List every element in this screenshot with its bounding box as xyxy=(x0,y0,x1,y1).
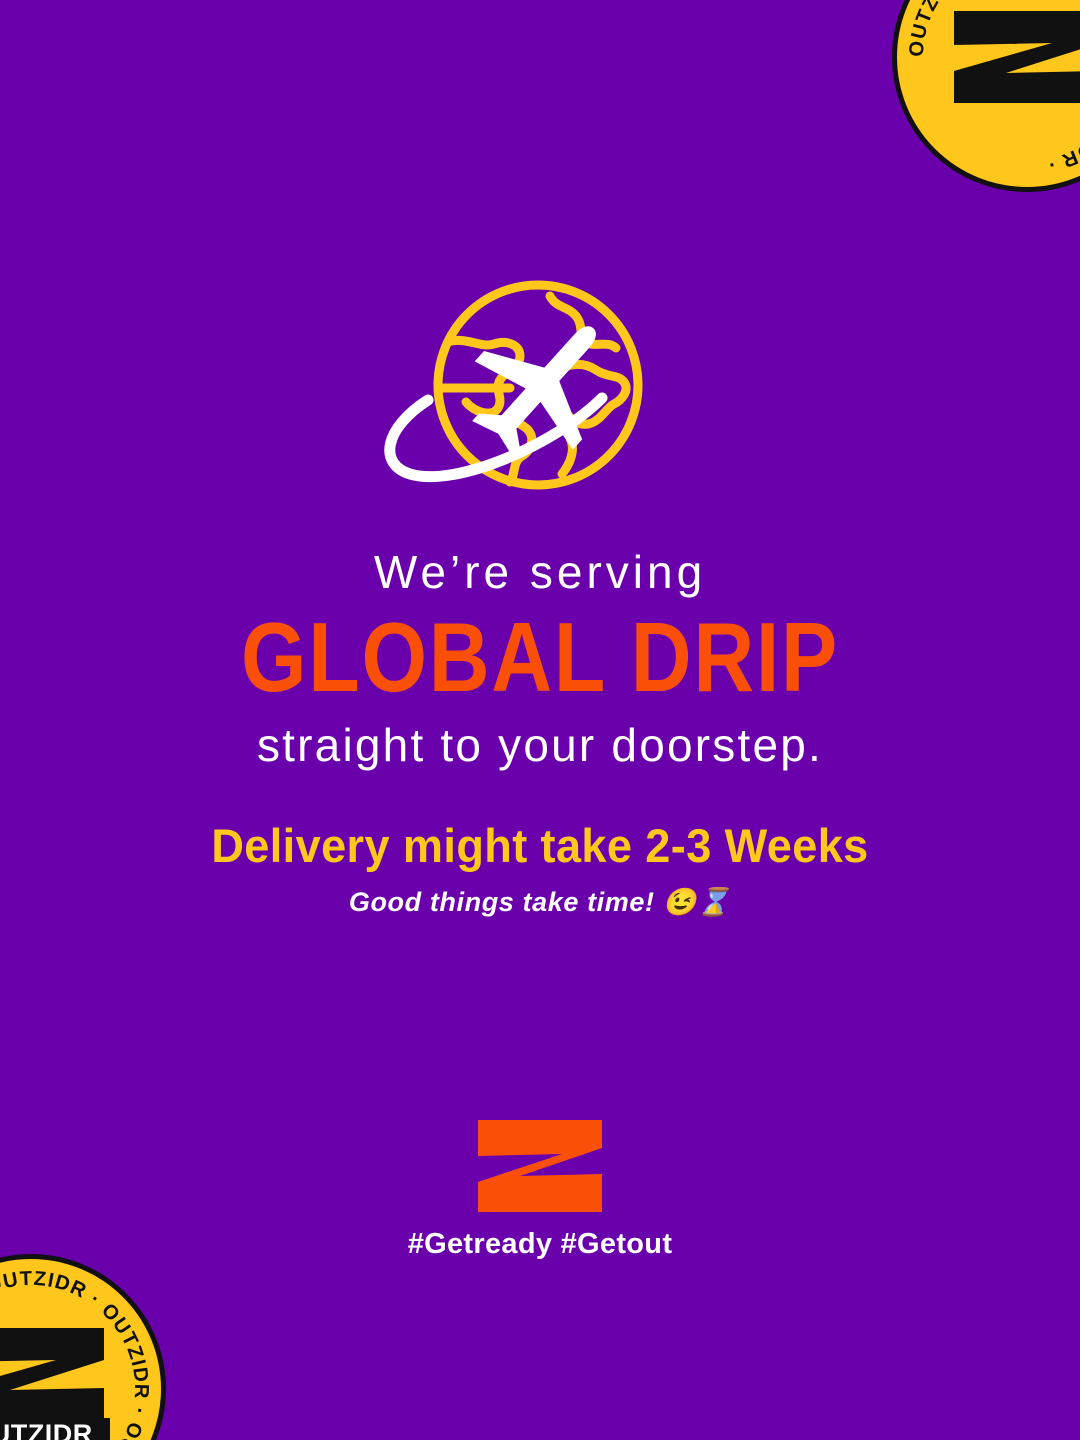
hashtags-text: #Getready #Getout xyxy=(0,1228,1080,1261)
headline-block: We’re serving GLOBAL DRIP straight to yo… xyxy=(0,548,1080,771)
brand-badge-top-right: OUTZIDR · OUTZIDR · OUTZIDR · OUTZIDR · xyxy=(892,0,1080,192)
promo-poster: OUTZIDR · OUTZIDR · OUTZIDR · OUTZIDR · … xyxy=(0,0,1080,1440)
brand-z-logo-icon xyxy=(478,1120,602,1212)
brand-badge-bottom-left: OUTZIDR · OUTZIDR · OUTZIDR · OUTZIDR · … xyxy=(0,1254,166,1440)
badge-z-letter-icon xyxy=(0,1326,110,1422)
delivery-notice-block: Delivery might take 2-3 Weeks Good thing… xyxy=(0,820,1080,918)
eyebrow-text: We’re serving xyxy=(0,548,1080,596)
footer-block: #Getready #Getout xyxy=(0,1120,1080,1261)
badge-inner-mark-top-right xyxy=(948,9,1080,105)
delivery-notice-text: Delivery might take 2-3 Weeks xyxy=(22,820,1059,872)
badge-inner-mark-bottom-left: OUTZIDR xyxy=(0,1326,110,1440)
delivery-reassurance-text: Good things take time! 😉⌛ xyxy=(0,886,1080,918)
badge-z-letter-icon xyxy=(948,9,1080,105)
globe-airplane-illustration xyxy=(0,278,1080,508)
headline-text: GLOBAL DRIP xyxy=(76,608,1005,706)
subline-text: straight to your doorstep. xyxy=(0,720,1080,771)
